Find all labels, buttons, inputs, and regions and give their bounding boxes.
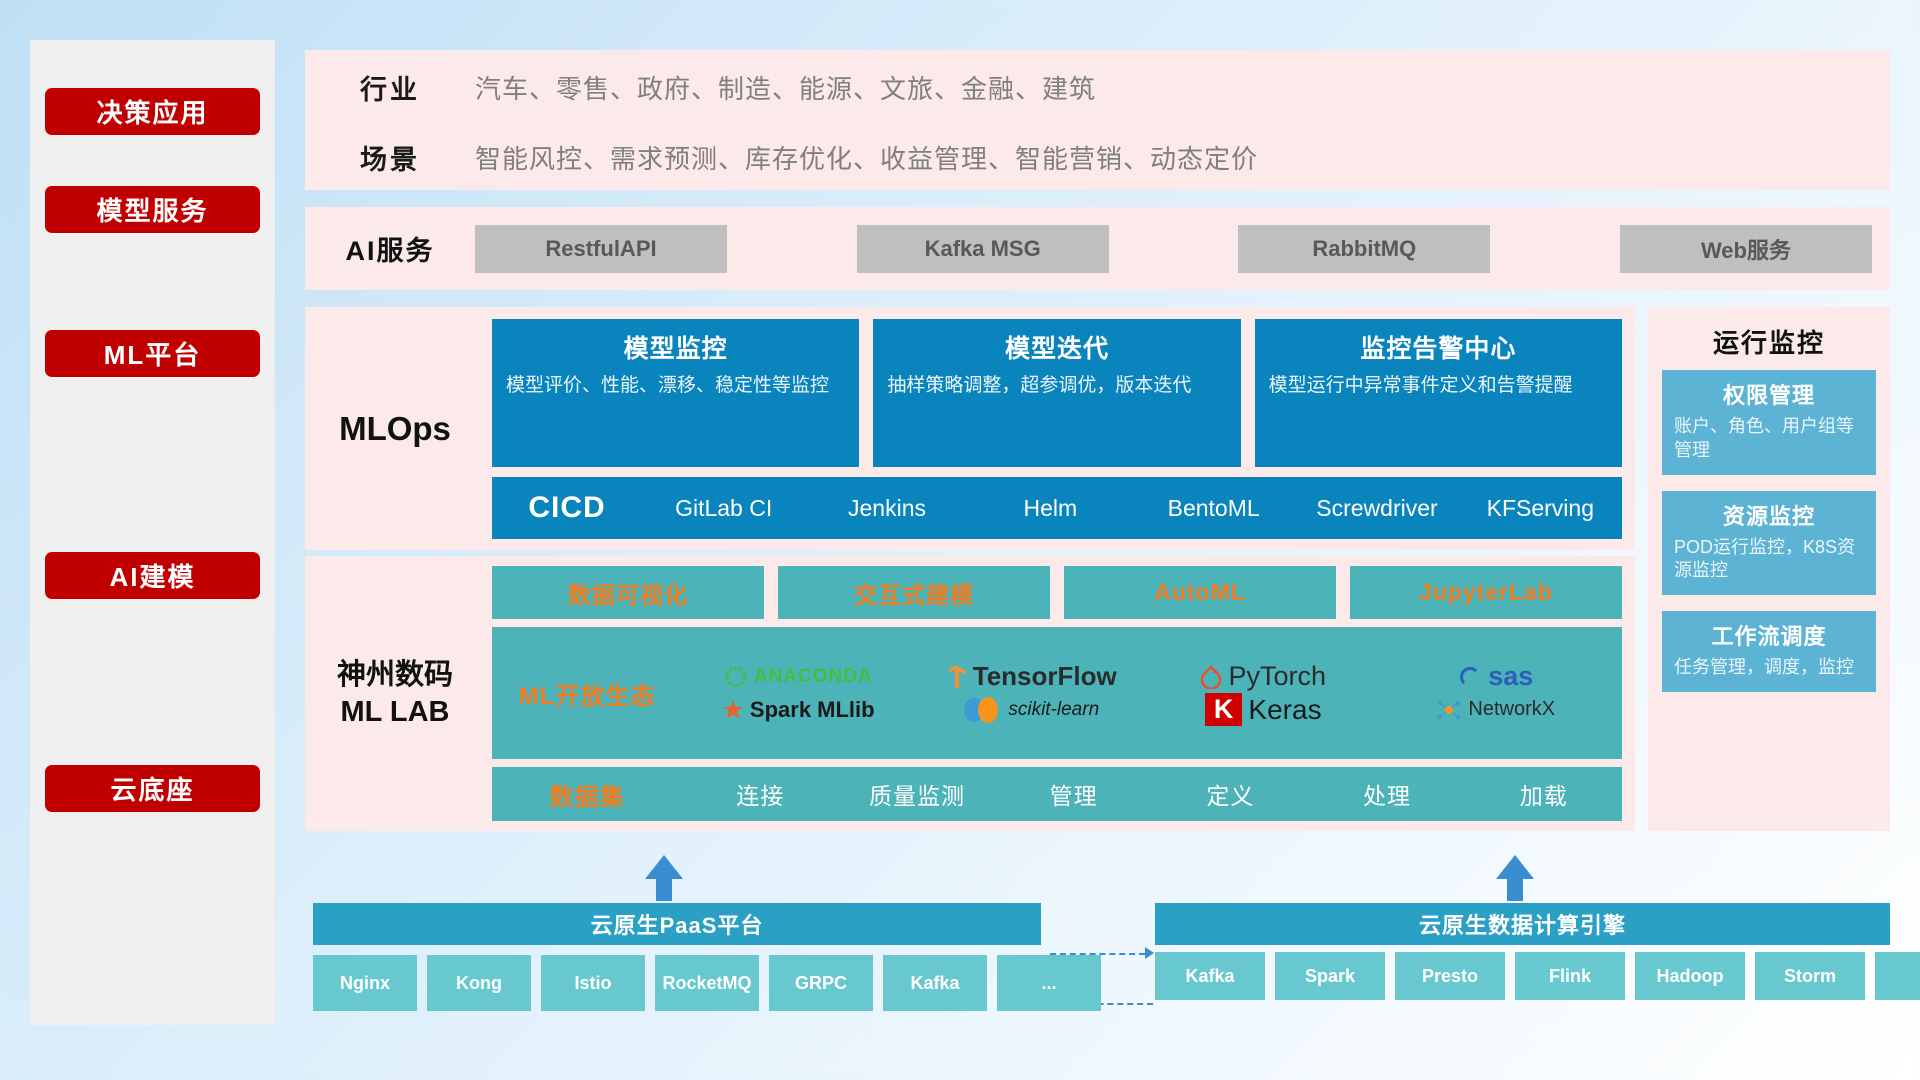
card-desc: 任务管理，调度，监控 bbox=[1674, 656, 1864, 680]
chip-presto[interactable]: Presto bbox=[1395, 952, 1505, 1000]
scenario-values: 智能风控、需求预测、库存优化、收益管理、智能营销、动态定价 bbox=[475, 139, 1258, 176]
mlops-card-alert-center[interactable]: 监控告警中心 模型运行中异常事件定义和告警提醒 bbox=[1255, 319, 1622, 467]
cicd-item-bentoml[interactable]: BentoML bbox=[1132, 496, 1295, 520]
monitor-card-resource[interactable]: 资源监控 POD运行监控，K8S资源监控 bbox=[1662, 491, 1876, 596]
card-title: 模型监控 bbox=[492, 319, 859, 373]
tool-automl[interactable]: AutoML bbox=[1064, 566, 1336, 619]
dataset-item-process[interactable]: 处理 bbox=[1309, 777, 1466, 811]
ai-service-restfulapi[interactable]: RestfulAPI bbox=[475, 225, 727, 273]
card-title: 监控告警中心 bbox=[1255, 319, 1622, 373]
chip-flink[interactable]: Flink bbox=[1515, 952, 1625, 1000]
ai-service-rabbitmq[interactable]: RabbitMQ bbox=[1238, 225, 1490, 273]
dataset-label: 数据集 bbox=[492, 777, 682, 812]
networkx-logo: NetworkX bbox=[1436, 698, 1555, 722]
ml-lab-label-line1: 神州数码 bbox=[337, 657, 453, 693]
card-desc: 模型运行中异常事件定义和告警提醒 bbox=[1255, 373, 1622, 399]
tensorflow-label: TensorFlow bbox=[973, 661, 1117, 692]
dataset-item-quality[interactable]: 质量监测 bbox=[839, 777, 996, 811]
scenario-label: 场景 bbox=[305, 138, 475, 177]
scikit-learn-label: scikit-learn bbox=[1008, 699, 1099, 721]
card-title: 工作流调度 bbox=[1674, 619, 1864, 656]
cicd-item-gitlab-ci[interactable]: GitLab CI bbox=[642, 496, 805, 520]
paas-chip-group: Nginx Kong Istio RocketMQ GRPC Kafka ... bbox=[313, 955, 1101, 1011]
rail-item-ml-platform[interactable]: ML平台 bbox=[45, 330, 260, 377]
dataset-item-connect[interactable]: 连接 bbox=[682, 777, 839, 811]
mlops-cards: 模型监控 模型评价、性能、漂移、稳定性等监控 模型迭代 抽样策略调整，超参调优，… bbox=[492, 319, 1622, 467]
ecosystem-label: ML开放生态 bbox=[492, 676, 682, 711]
tool-data-visualization[interactable]: 数据可视化 bbox=[492, 566, 764, 619]
card-desc: 抽样策略调整，超参调优，版本迭代 bbox=[873, 373, 1240, 399]
spark-icon bbox=[722, 699, 744, 721]
ecosystem-logos: ANACONDA TensorFlow PyTorch bbox=[682, 660, 1622, 726]
mlops-label: MLOps bbox=[305, 307, 485, 550]
cicd-item-kfserving[interactable]: KFServing bbox=[1459, 496, 1622, 520]
rail-item-model-service[interactable]: 模型服务 bbox=[45, 186, 260, 233]
rail-label: AI建模 bbox=[109, 557, 195, 594]
keras-mark: K bbox=[1205, 693, 1243, 726]
mlops-card-model-iteration[interactable]: 模型迭代 抽样策略调整，超参调优，版本迭代 bbox=[873, 319, 1240, 467]
scikit-learn-icon bbox=[962, 696, 1002, 724]
cicd-item-jenkins[interactable]: Jenkins bbox=[805, 496, 968, 520]
anaconda-label: ANACONDA bbox=[754, 666, 873, 688]
tensorflow-logo: TensorFlow bbox=[945, 661, 1117, 692]
chip-nginx[interactable]: Nginx bbox=[313, 955, 417, 1011]
keras-logo: K Keras bbox=[1205, 693, 1322, 726]
card-title: 模型迭代 bbox=[873, 319, 1240, 373]
card-desc: 账户、角色、用户组等管理 bbox=[1674, 415, 1864, 463]
industry-label: 行业 bbox=[305, 68, 475, 107]
rail-label: 模型服务 bbox=[96, 191, 208, 228]
ml-open-ecosystem: ML开放生态 ANACONDA TensorFlow bbox=[492, 627, 1622, 759]
anaconda-logo: ANACONDA bbox=[724, 665, 873, 689]
chip-grpc[interactable]: GRPC bbox=[769, 955, 873, 1011]
industry-row: 行业 汽车、零售、政府、制造、能源、文旅、金融、建筑 bbox=[305, 52, 1890, 122]
networkx-label: NetworkX bbox=[1468, 698, 1555, 721]
chip-kafka-right[interactable]: Kafka bbox=[1155, 952, 1265, 1000]
dataset-items: 连接 质量监测 管理 定义 处理 加载 bbox=[682, 777, 1622, 811]
ml-lab-label: 神州数码 ML LAB bbox=[305, 556, 485, 831]
mlops-band: MLOps 模型监控 模型评价、性能、漂移、稳定性等监控 模型迭代 抽样策略调整… bbox=[305, 307, 1635, 550]
layer-rail: 决策应用 模型服务 ML平台 AI建模 云底座 bbox=[30, 40, 275, 1025]
chip-storm[interactable]: Storm bbox=[1755, 952, 1865, 1000]
ai-service-label: AI服务 bbox=[305, 229, 475, 268]
keras-label: Keras bbox=[1248, 694, 1321, 726]
rail-item-ai-modeling[interactable]: AI建模 bbox=[45, 552, 260, 599]
dataset-item-define[interactable]: 定义 bbox=[1152, 777, 1309, 811]
chip-istio[interactable]: Istio bbox=[541, 955, 645, 1011]
dataset-row: 数据集 连接 质量监测 管理 定义 处理 加载 bbox=[492, 767, 1622, 821]
tool-jupyterlab[interactable]: JupyterLab bbox=[1350, 566, 1622, 619]
chip-kafka[interactable]: Kafka bbox=[883, 955, 987, 1011]
card-title: 权限管理 bbox=[1674, 378, 1864, 415]
rail-label: 云底座 bbox=[110, 770, 194, 807]
industry-values: 汽车、零售、政府、制造、能源、文旅、金融、建筑 bbox=[475, 69, 1096, 106]
pytorch-label: PyTorch bbox=[1228, 661, 1326, 692]
scenario-row: 场景 智能风控、需求预测、库存优化、收益管理、智能营销、动态定价 bbox=[305, 122, 1890, 192]
chip-more-left[interactable]: ... bbox=[997, 955, 1101, 1011]
pytorch-logo: PyTorch bbox=[1200, 661, 1326, 692]
card-title: 资源监控 bbox=[1674, 499, 1864, 536]
dataset-item-manage[interactable]: 管理 bbox=[995, 777, 1152, 811]
cicd-label: CICD bbox=[492, 491, 642, 525]
ml-lab-label-line2: ML LAB bbox=[340, 694, 449, 730]
rail-item-decision-apps[interactable]: 决策应用 bbox=[45, 88, 260, 135]
card-desc: 模型评价、性能、漂移、稳定性等监控 bbox=[492, 373, 859, 399]
tool-interactive-modeling[interactable]: 交互式建模 bbox=[778, 566, 1050, 619]
chip-more-right[interactable]: ... bbox=[1875, 952, 1920, 1000]
anaconda-icon bbox=[724, 665, 748, 689]
monitor-card-workflow[interactable]: 工作流调度 任务管理，调度，监控 bbox=[1662, 611, 1876, 692]
chip-spark[interactable]: Spark bbox=[1275, 952, 1385, 1000]
mlops-card-model-monitoring[interactable]: 模型监控 模型评价、性能、漂移、稳定性等监控 bbox=[492, 319, 859, 467]
data-engine-bar[interactable]: 云原生数据计算引擎 bbox=[1155, 903, 1890, 945]
sas-logo: sas bbox=[1458, 661, 1533, 692]
runtime-monitoring-panel: 运行监控 权限管理 账户、角色、用户组等管理 资源监控 POD运行监控，K8S资… bbox=[1648, 307, 1890, 831]
rail-item-cloud-base[interactable]: 云底座 bbox=[45, 765, 260, 812]
scikit-learn-logo: scikit-learn bbox=[962, 696, 1099, 724]
spark-label: Spark MLlib bbox=[750, 697, 875, 723]
networkx-icon bbox=[1436, 698, 1462, 722]
cicd-row: CICD GitLab CI Jenkins Helm BentoML Scre… bbox=[492, 477, 1622, 539]
chip-rocketmq[interactable]: RocketMQ bbox=[655, 955, 759, 1011]
ai-service-items: RestfulAPI Kafka MSG RabbitMQ Web服务 bbox=[475, 225, 1890, 273]
ai-service-web[interactable]: Web服务 bbox=[1620, 225, 1872, 273]
sas-icon bbox=[1458, 665, 1482, 689]
chip-kong[interactable]: Kong bbox=[427, 955, 531, 1011]
ml-lab-tools: 数据可视化 交互式建模 AutoML JupyterLab bbox=[492, 566, 1622, 619]
tensorflow-icon bbox=[945, 664, 967, 690]
ai-service-kafka-msg[interactable]: Kafka MSG bbox=[857, 225, 1109, 273]
data-engine-chip-group: Kafka Spark Presto Flink Hadoop Storm ..… bbox=[1155, 952, 1920, 1000]
monitoring-title: 运行监控 bbox=[1648, 307, 1890, 370]
rail-label: ML平台 bbox=[104, 335, 202, 372]
card-desc: POD运行监控，K8S资源监控 bbox=[1674, 536, 1864, 584]
paas-platform-bar[interactable]: 云原生PaaS平台 bbox=[313, 903, 1041, 945]
decision-apps-band: 行业 汽车、零售、政府、制造、能源、文旅、金融、建筑 场景 智能风控、需求预测、… bbox=[305, 50, 1890, 190]
architecture-diagram: 决策应用 模型服务 ML平台 AI建模 云底座 行业 汽车、零售、政府、制造、能… bbox=[0, 0, 1920, 1080]
cicd-item-helm[interactable]: Helm bbox=[969, 496, 1132, 520]
ml-lab-band: 神州数码 ML LAB 数据可视化 交互式建模 AutoML JupyterLa… bbox=[305, 556, 1635, 831]
rail-label: 决策应用 bbox=[96, 93, 208, 130]
cicd-item-screwdriver[interactable]: Screwdriver bbox=[1295, 496, 1458, 520]
ml-lab-content: 数据可视化 交互式建模 AutoML JupyterLab ML开放生态 ANA… bbox=[492, 566, 1622, 821]
chip-hadoop[interactable]: Hadoop bbox=[1635, 952, 1745, 1000]
dataset-item-load[interactable]: 加载 bbox=[1465, 777, 1622, 811]
spark-mllib-logo: Spark MLlib bbox=[722, 697, 875, 723]
cicd-items: GitLab CI Jenkins Helm BentoML Screwdriv… bbox=[642, 496, 1622, 520]
sas-label: sas bbox=[1488, 661, 1533, 692]
ai-service-band: AI服务 RestfulAPI Kafka MSG RabbitMQ Web服务 bbox=[305, 207, 1890, 290]
monitor-card-permission[interactable]: 权限管理 账户、角色、用户组等管理 bbox=[1662, 370, 1876, 475]
pytorch-icon bbox=[1200, 665, 1222, 689]
